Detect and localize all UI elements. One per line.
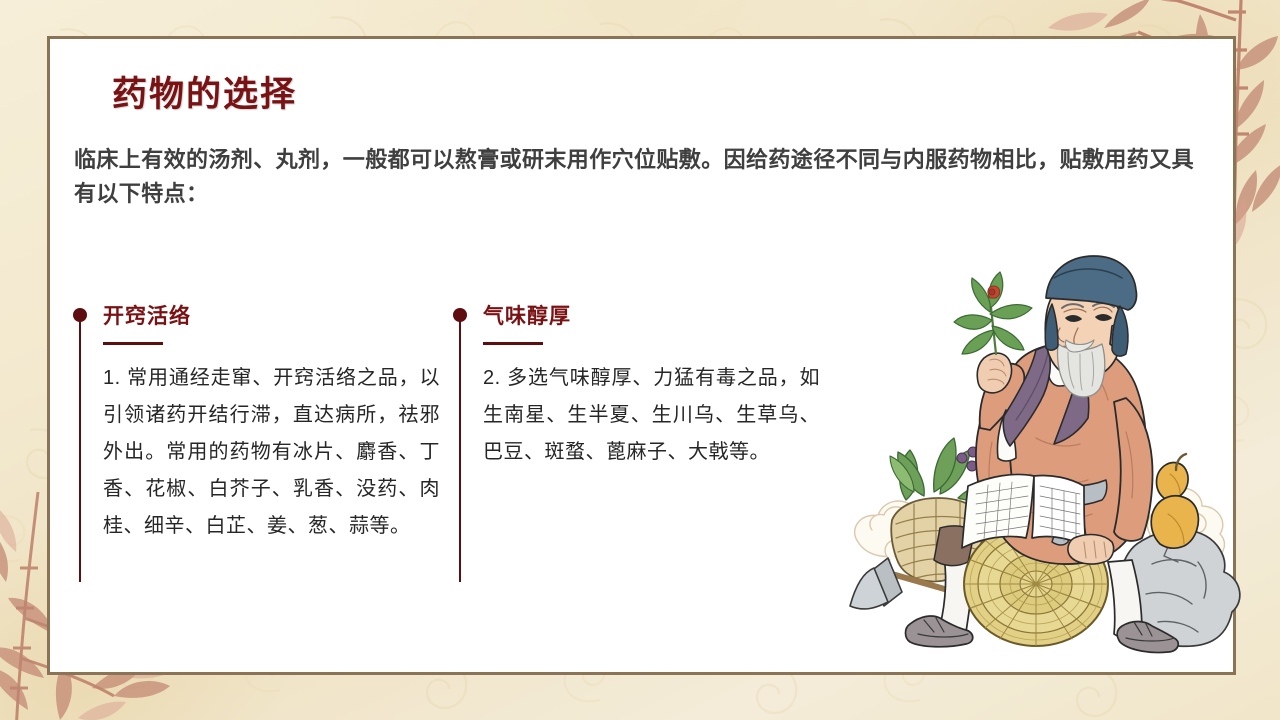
slide-canvas: 药物的选择 临床上有效的汤剂、丸剂，一般都可以熬膏或研末用作穴位贴敷。因给药途径… (0, 0, 1280, 720)
heading-underline (103, 342, 163, 345)
feature-column-2: 气味醇厚 2. 多选气味醇厚、力猛有毒之品，如生南星、生半夏、生川乌、生草乌、巴… (448, 304, 820, 545)
feature-heading: 气味醇厚 (483, 304, 820, 329)
vertical-rule (459, 316, 461, 582)
intro-paragraph: 临床上有效的汤剂、丸剂，一般都可以熬膏或研末用作穴位贴敷。因给药途径不同与内服药… (74, 143, 1199, 211)
feature-body: 2. 多选气味醇厚、力猛有毒之品，如生南星、生半夏、生川乌、生草乌、巴豆、斑蝥、… (483, 360, 820, 471)
content-card: 药物的选择 临床上有效的汤剂、丸剂，一般都可以熬膏或研末用作穴位贴敷。因给药途径… (47, 36, 1236, 675)
feature-body: 1. 常用通经走窜、开窍活络之品，以引领诸药开结行滞，直达病所，祛邪外出。常用的… (103, 360, 440, 545)
heading-underline (483, 342, 543, 345)
feature-columns: 开窍活络 1. 常用通经走窜、开窍活络之品，以引领诸药开结行滞，直达病所，祛邪外… (68, 304, 828, 545)
page-title: 药物的选择 (112, 66, 297, 117)
feature-heading: 开窍活络 (103, 304, 440, 329)
feature-column-1: 开窍活络 1. 常用通经走窜、开窍活络之品，以引领诸药开结行滞，直达病所，祛邪外… (68, 304, 440, 545)
herbalist-illustration (840, 242, 1260, 662)
vertical-rule (79, 316, 81, 582)
